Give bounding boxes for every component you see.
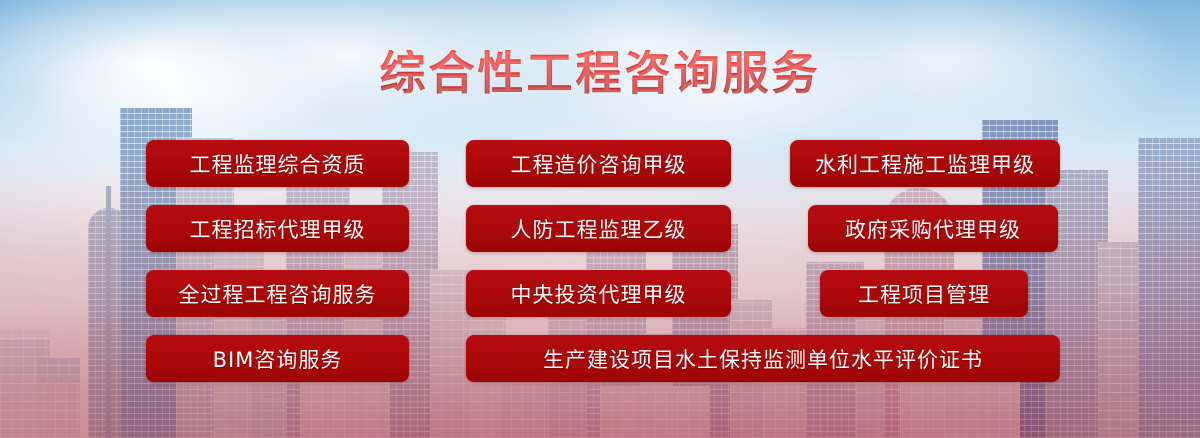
qualification-tag[interactable]: 中央投资代理甲级 [466, 270, 731, 317]
tag-row: 全过程工程咨询服务 中央投资代理甲级 工程项目管理 [0, 270, 1200, 317]
tag-row: 工程监理综合资质 工程造价咨询甲级 水利工程施工监理甲级 [0, 140, 1200, 187]
qualification-tag[interactable]: 生产建设项目水土保持监测单位水平评价证书 [466, 335, 1060, 382]
qualification-tag[interactable]: BIM咨询服务 [146, 335, 409, 382]
qualification-tag[interactable]: 工程造价咨询甲级 [466, 140, 731, 187]
qualification-tag[interactable]: 水利工程施工监理甲级 [790, 140, 1060, 187]
tag-row: 工程招标代理甲级 人防工程监理乙级 政府采购代理甲级 [0, 205, 1200, 252]
banner-content: 综合性工程咨询服务 工程监理综合资质 工程造价咨询甲级 水利工程施工监理甲级 工… [0, 0, 1200, 438]
page-title: 综合性工程咨询服务 [0, 50, 1200, 96]
qualification-tag[interactable]: 工程项目管理 [820, 270, 1028, 317]
qualification-tag-list: 工程监理综合资质 工程造价咨询甲级 水利工程施工监理甲级 工程招标代理甲级 人防… [0, 140, 1200, 400]
qualification-tag[interactable]: 政府采购代理甲级 [808, 205, 1058, 252]
qualification-tag[interactable]: 人防工程监理乙级 [466, 205, 731, 252]
tag-row: BIM咨询服务 生产建设项目水土保持监测单位水平评价证书 [0, 335, 1200, 382]
qualification-banner: 综合性工程咨询服务 工程监理综合资质 工程造价咨询甲级 水利工程施工监理甲级 工… [0, 0, 1200, 438]
qualification-tag[interactable]: 工程监理综合资质 [146, 140, 409, 187]
qualification-tag[interactable]: 工程招标代理甲级 [146, 205, 409, 252]
qualification-tag[interactable]: 全过程工程咨询服务 [146, 270, 409, 317]
